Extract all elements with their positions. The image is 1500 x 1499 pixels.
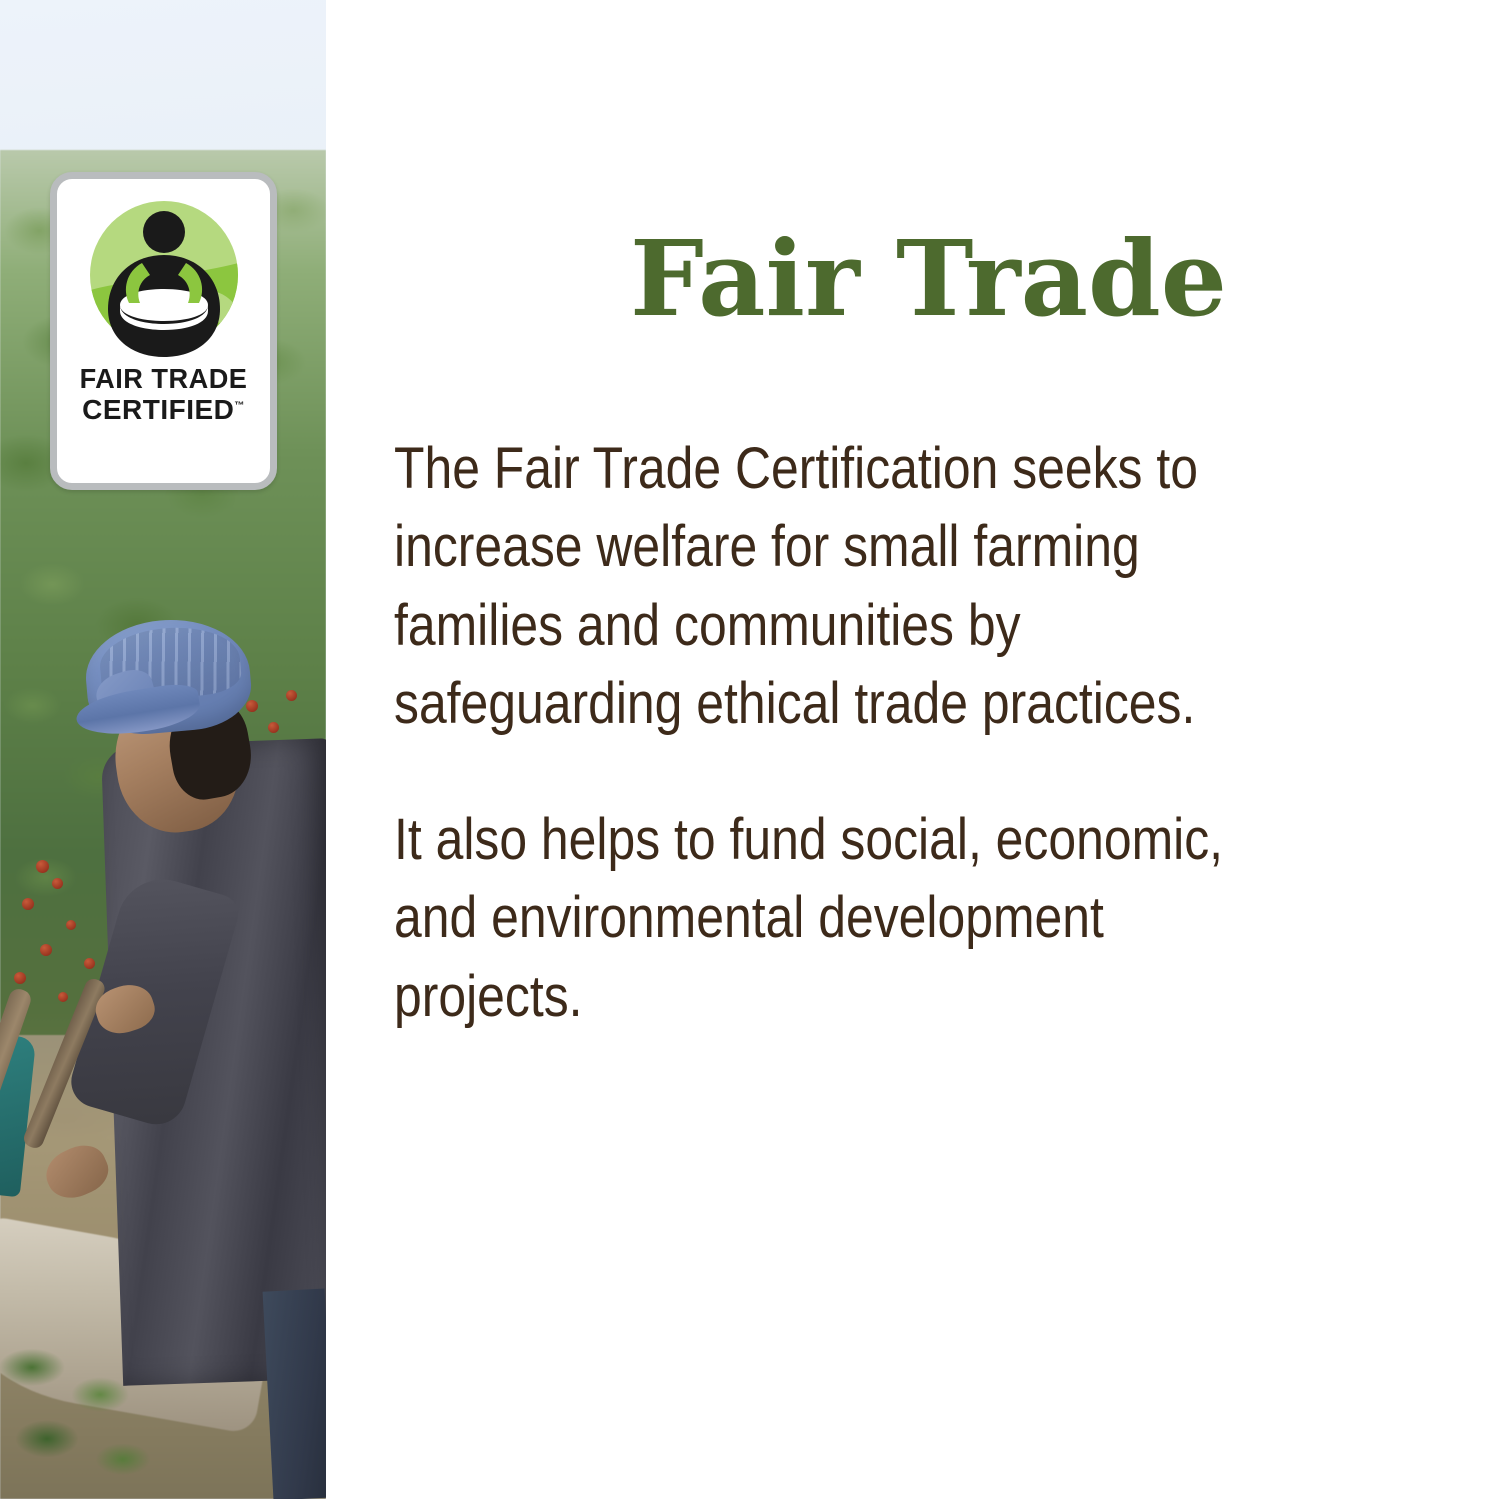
coffee-cherry: [286, 690, 297, 701]
paragraph-2: It also helps to fund social, economic, …: [394, 801, 1284, 1036]
fair-trade-logo-icon: [80, 193, 248, 361]
coffee-cherry: [22, 898, 34, 910]
badge-text-block: FAIR TRADE CERTIFIED™: [57, 365, 270, 424]
coffee-farm-worker-photo: FAIR TRADE CERTIFIED™: [0, 0, 326, 1499]
coffee-cherry: [58, 992, 68, 1002]
coffee-cherry: [36, 860, 49, 873]
badge-line-certified: CERTIFIED™: [57, 396, 270, 424]
badge-certified-word: CERTIFIED: [82, 394, 234, 425]
coffee-cherry: [14, 972, 26, 984]
product-info-panel: FAIR TRADE CERTIFIED™ Fair Trade The Fai…: [0, 0, 1500, 1499]
coffee-cherry: [246, 700, 258, 712]
paragraph-1: The Fair Trade Certification seeks to in…: [394, 430, 1284, 743]
coffee-cherry: [66, 920, 76, 930]
text-content-area: Fair Trade The Fair Trade Certification …: [326, 0, 1500, 1499]
page-title: Fair Trade: [630, 222, 1227, 336]
foreground-leaves: [0, 1330, 180, 1499]
worker-leg: [263, 1289, 326, 1499]
coffee-cherry: [40, 944, 52, 956]
fair-trade-certified-badge: FAIR TRADE CERTIFIED™: [50, 172, 277, 490]
body-text-block: The Fair Trade Certification seeks to in…: [394, 372, 1284, 1094]
coffee-cherry: [268, 722, 279, 733]
coffee-cherry: [84, 958, 95, 969]
trademark-symbol: ™: [234, 401, 245, 412]
badge-line-fair-trade: FAIR TRADE: [60, 365, 267, 393]
coffee-cherry: [52, 878, 63, 889]
